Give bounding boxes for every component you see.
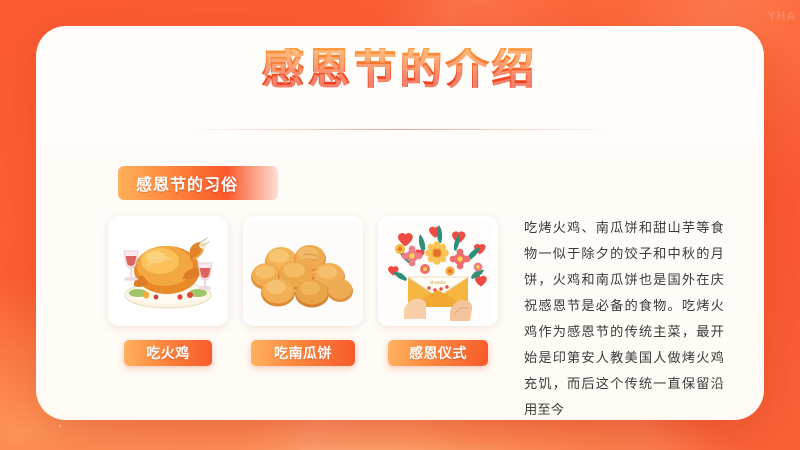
custom-label-pill[interactable]: 吃火鸡	[124, 340, 212, 366]
thanks-envelope-flowers-illustration: thanks	[382, 221, 494, 321]
page-title: 感恩节的介绍	[262, 48, 538, 90]
section-badge: 感恩节的习俗	[118, 166, 278, 200]
content-row: 吃火鸡	[108, 216, 724, 424]
list-item[interactable]: thanks 感恩仪式	[378, 216, 498, 424]
slide-root: YHA 感恩节的介绍 感恩节的习俗	[0, 0, 800, 450]
section-badge-label: 感恩节的习俗	[136, 171, 238, 195]
pumpkin-cakes-photo	[247, 221, 359, 321]
roast-turkey-thumbnail[interactable]	[108, 216, 228, 326]
pumpkin-cakes-thumbnail[interactable]	[243, 216, 363, 326]
list-item[interactable]: 吃南瓜饼	[243, 216, 363, 424]
page-title-wrap: 感恩节的介绍	[36, 48, 764, 90]
custom-label: 吃南瓜饼	[274, 343, 332, 363]
custom-label-pill[interactable]: 吃南瓜饼	[251, 340, 355, 366]
custom-label: 吃火鸡	[146, 343, 190, 363]
svg-text:thanks: thanks	[430, 280, 446, 286]
list-item[interactable]: 吃火鸡	[108, 216, 228, 424]
custom-label-pill[interactable]: 感恩仪式	[388, 340, 488, 366]
content-card: 感恩节的介绍 感恩节的习俗	[36, 26, 764, 420]
thanks-ceremony-thumbnail[interactable]: thanks	[378, 216, 498, 326]
custom-thumbnail-list: 吃火鸡	[108, 216, 498, 424]
watermark-text: YHA	[768, 9, 796, 23]
roast-turkey-illustration	[112, 221, 224, 321]
custom-label: 感恩仪式	[409, 343, 467, 363]
title-divider	[181, 129, 619, 130]
body-paragraph: 吃烤火鸡、南瓜饼和甜山芋等食物一似于除夕的饺子和中秋的月饼，火鸡和南瓜饼也是国外…	[524, 216, 724, 424]
